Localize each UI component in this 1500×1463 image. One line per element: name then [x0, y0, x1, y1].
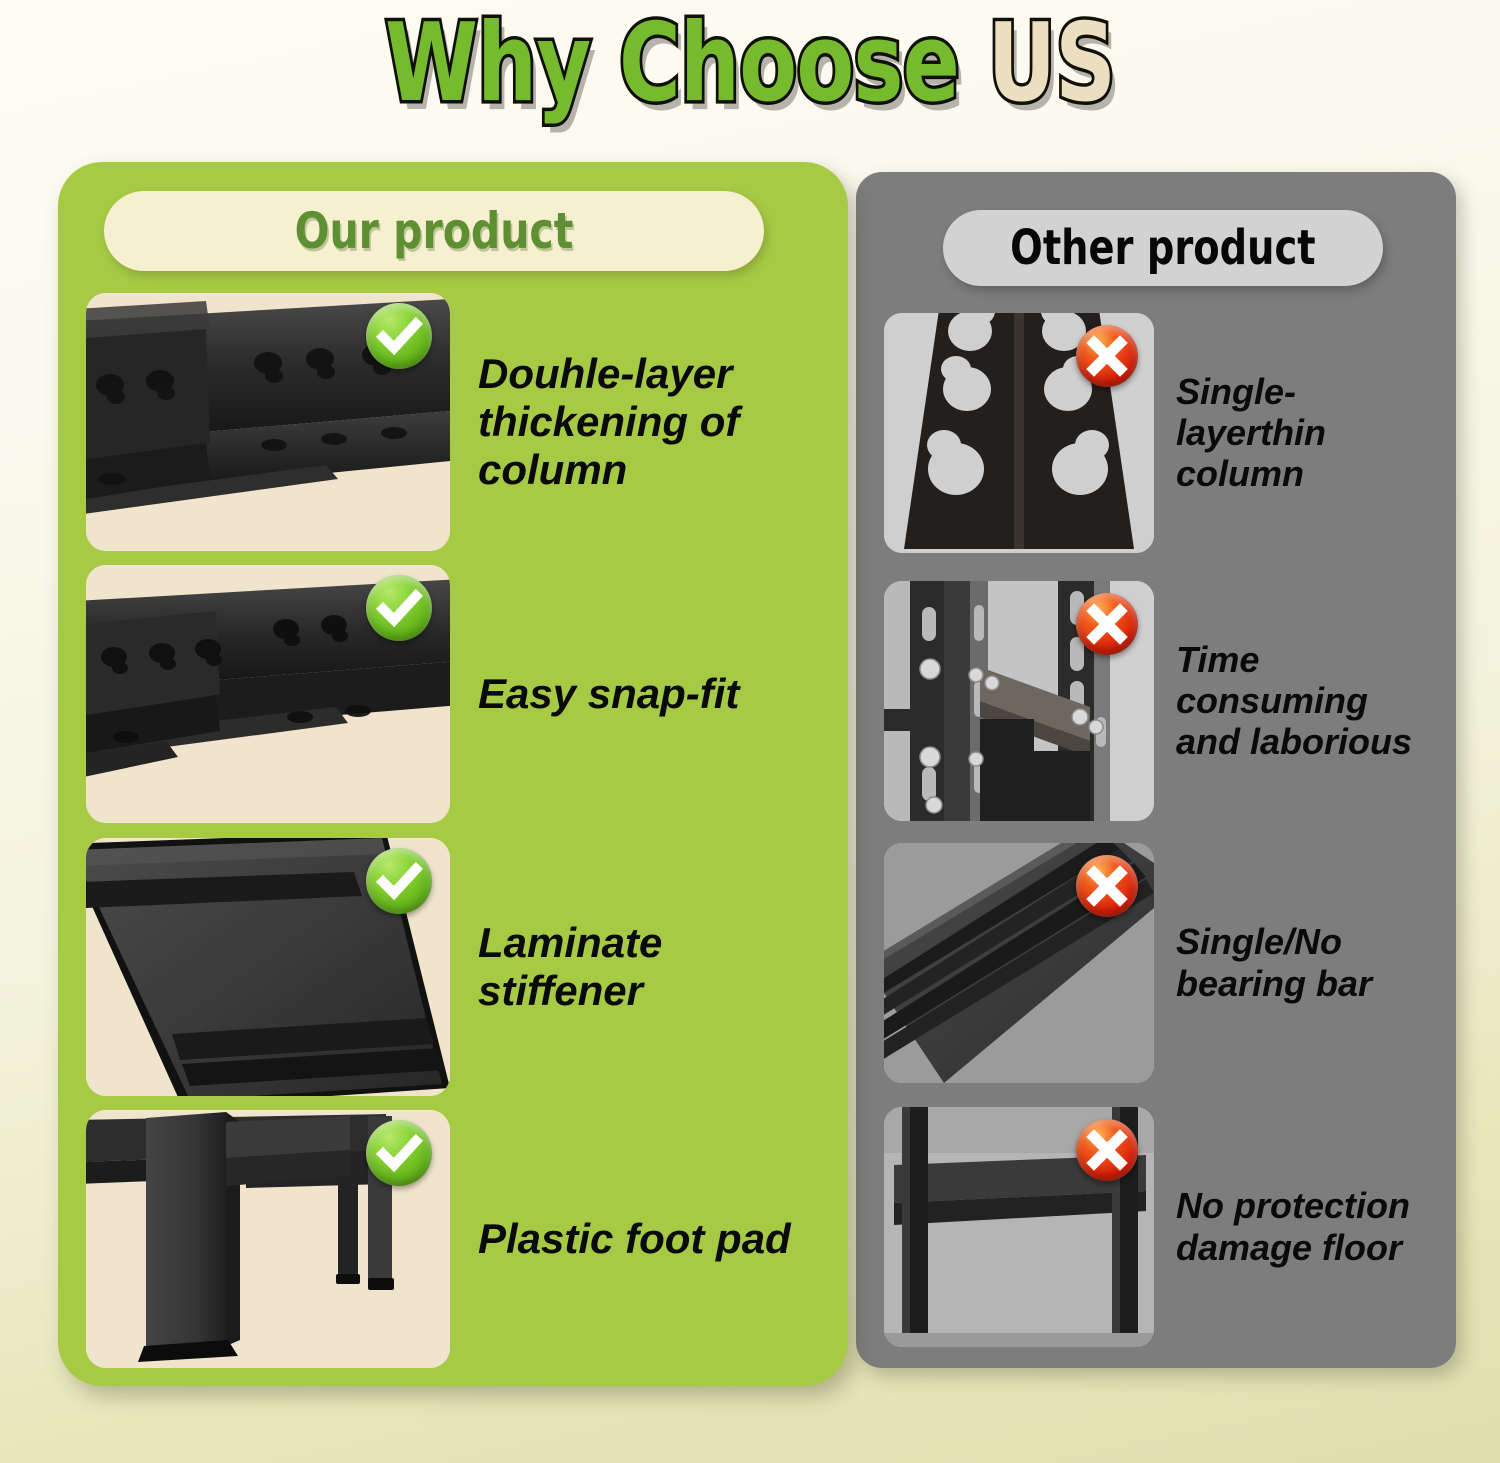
title-green-part: Why Choose	[385, 1, 959, 126]
our-product-badge-label: Our product	[295, 202, 574, 260]
check-circle-icon	[366, 575, 432, 641]
list-item: Laminate stiffener	[86, 838, 836, 1096]
list-item-label: Douhle-layer thickening of column	[478, 350, 836, 494]
list-item-label: Time consuming and laborious	[1176, 639, 1432, 762]
no-bearing-bar-photo	[884, 843, 1154, 1083]
list-item: Plastic foot pad	[86, 1110, 836, 1368]
list-item: Single/No bearing bar	[884, 840, 1432, 1085]
list-item-label: No protection damage floor	[1176, 1185, 1432, 1267]
list-item-label: Plastic foot pad	[478, 1215, 791, 1263]
list-item: Time consuming and laborious	[884, 578, 1432, 823]
double-layer-column-photo	[86, 293, 450, 551]
list-item-label: Laminate stiffener	[478, 919, 836, 1015]
check-circle-icon	[366, 848, 432, 914]
our-product-badge: Our product	[104, 191, 764, 271]
list-item: Douhle-layer thickening of column	[86, 293, 836, 551]
plastic-foot-pad-photo	[86, 1110, 450, 1368]
snap-fit-beam-photo	[86, 565, 450, 823]
other-product-badge: Other product	[943, 210, 1383, 286]
check-circle-icon	[366, 303, 432, 369]
x-circle-icon	[1076, 325, 1138, 387]
single-layer-column-photo	[884, 313, 1154, 553]
list-item-label: Single-layerthin column	[1176, 371, 1432, 494]
list-item: No protection damage floor	[884, 1104, 1432, 1349]
check-circle-icon	[366, 1120, 432, 1186]
page-title: Why Choose US	[0, 4, 1500, 129]
screw-assembly-photo	[884, 581, 1154, 821]
no-foot-pad-photo	[884, 1107, 1154, 1347]
x-circle-icon	[1076, 593, 1138, 655]
x-circle-icon	[1076, 1119, 1138, 1181]
title-cream-part: US	[959, 1, 1115, 126]
x-circle-icon	[1076, 855, 1138, 917]
list-item: Single-layerthin column	[884, 310, 1432, 555]
other-product-badge-label: Other product	[1010, 220, 1315, 276]
list-item: Easy snap-fit	[86, 565, 836, 823]
laminate-stiffener-photo	[86, 838, 450, 1096]
list-item-label: Single/No bearing bar	[1176, 921, 1432, 1003]
list-item-label: Easy snap-fit	[478, 670, 739, 718]
